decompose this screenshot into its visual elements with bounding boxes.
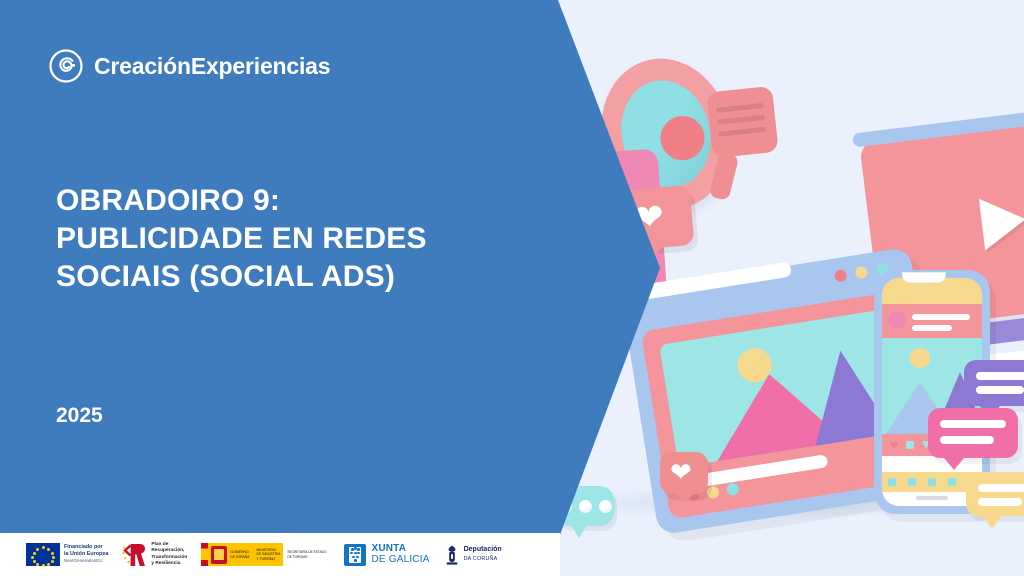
prtr-line-2: Recuperación, xyxy=(151,548,184,553)
gob-line-2: DE ESPAÑA xyxy=(230,555,249,559)
eu-funding-text: Financiado por la Unión Europea NextGene… xyxy=(64,544,108,565)
spiral-circle-icon xyxy=(48,48,84,84)
xunta-line-2: DE GALICIA xyxy=(371,554,429,565)
funding-logo-bar: Financiado por la Unión Europea NextGene… xyxy=(0,533,560,576)
gob-line-3: MINISTERIO xyxy=(256,548,276,552)
title-line-3: SOCIAIS (SOCIAL ADS) xyxy=(56,258,486,296)
chat-bubble-yellow-right xyxy=(966,472,1024,516)
eu-line-2: la Unión Europea xyxy=(64,551,108,557)
title-line-1: OBRADOIRO 9: xyxy=(56,182,486,220)
dep-line-2: DA CORUÑA xyxy=(464,556,498,562)
chat-bubble-pink-right xyxy=(928,408,1018,458)
title-slide: ❤ xyxy=(0,0,1024,576)
brand-name: CreaciónExperiencias xyxy=(94,53,330,80)
tower-icon xyxy=(444,544,460,566)
logo-gobierno-espana: GOBIERNO DE ESPAÑA MINISTERIO DE INDUSTR… xyxy=(201,543,330,566)
page-title: OBRADOIRO 9: PUBLICIDADE EN REDES SOCIAI… xyxy=(56,182,486,295)
xunta-text: XUNTA DE GALICIA xyxy=(371,544,429,566)
ministerio-text: MINISTERIO DE INDUSTRIA Y TURISMO xyxy=(256,548,280,561)
photo-post xyxy=(659,309,908,468)
prtr-r-icon xyxy=(122,543,148,567)
eu-flag-icon xyxy=(26,543,60,566)
logo-xunta-de-galicia: XUNTA DE GALICIA xyxy=(344,544,429,566)
logo-deputacion-da-coruna: Deputación DA CORUÑA xyxy=(444,544,502,566)
deputacion-text: Deputación DA CORUÑA xyxy=(464,546,502,563)
gob-line-5: Y TURISMO xyxy=(256,557,275,561)
prtr-line-1: Plan de xyxy=(151,542,168,547)
prtr-line-3: Transformación xyxy=(151,555,187,560)
prtr-line-4: y Resiliencia xyxy=(151,561,180,566)
eu-line-1: Financiado por xyxy=(64,544,103,550)
chat-bubble-purple-right xyxy=(964,360,1024,406)
prtr-text: Plan de Recuperación, Transformación y R… xyxy=(151,542,187,568)
gobierno-text: GOBIERNO DE ESPAÑA xyxy=(230,550,249,559)
gobierno-block: GOBIERNO DE ESPAÑA MINISTERIO DE INDUSTR… xyxy=(208,543,283,566)
like-heart-badge-icon-3: ❤ xyxy=(660,452,708,494)
gob-line-1: GOBIERNO xyxy=(230,550,248,554)
galicia-chalice-icon xyxy=(344,544,366,566)
dep-line-1: Deputación xyxy=(464,546,502,553)
year-label: 2025 xyxy=(56,404,103,428)
logo-prtr: Plan de Recuperación, Transformación y R… xyxy=(122,542,187,568)
gob-line-7: DE TURISMO xyxy=(287,555,307,559)
xunta-line-1: XUNTA xyxy=(371,543,406,554)
gob-line-4: DE INDUSTRIA xyxy=(256,552,280,556)
spain-flag-bar-icon xyxy=(201,543,208,566)
spain-coat-of-arms-icon xyxy=(211,546,227,564)
secretaria-block: SECRETARÍA DE ESTADO DE TURISMO xyxy=(283,543,330,566)
brand-logo: CreaciónExperiencias xyxy=(48,48,330,84)
play-icon xyxy=(979,193,1024,250)
secretaria-text: SECRETARÍA DE ESTADO DE TURISMO xyxy=(287,550,326,558)
eu-line-3: NextGenerationEU xyxy=(64,558,103,563)
logo-eu-funding: Financiado por la Unión Europea NextGene… xyxy=(26,543,108,566)
title-line-2: PUBLICIDADE EN REDES xyxy=(56,220,486,258)
